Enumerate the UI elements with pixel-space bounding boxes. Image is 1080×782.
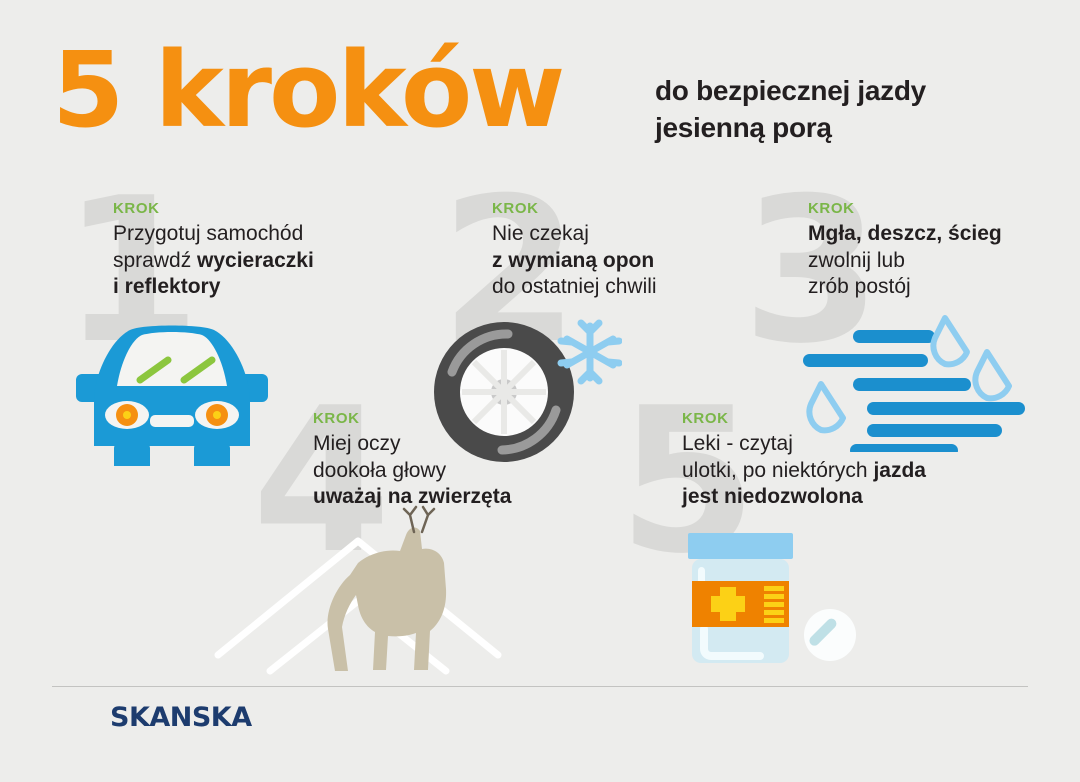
step-3-text: Mgła, deszcz, ścieg zwolnij lub zrób pos… bbox=[808, 221, 1002, 301]
step-1-line-2-bold: wycieraczki bbox=[197, 249, 314, 272]
step-1-line-2: sprawdź bbox=[113, 249, 197, 272]
footer-divider bbox=[52, 686, 1028, 687]
step-5-line-2-bold: jazda bbox=[873, 459, 926, 482]
step-1-krok-label: KROK bbox=[113, 200, 314, 217]
step-5: KROK Leki - czytaj ulotki, po niektórych… bbox=[682, 410, 926, 511]
car-icon bbox=[72, 318, 272, 471]
step-4-line-2: dookoła głowy bbox=[313, 459, 446, 482]
step-2-line-3: do ostatniej chwili bbox=[492, 275, 657, 298]
step-1-line-3: i reflektory bbox=[113, 275, 220, 298]
step-3-krok-label: KROK bbox=[808, 200, 1002, 217]
step-1-line-1: Przygotuj samochód bbox=[113, 222, 303, 245]
step-4-line-1: Miej oczy bbox=[313, 432, 401, 455]
step-2-text: Nie czekaj z wymianą opon do ostatniej c… bbox=[492, 221, 657, 301]
page-subtitle: do bezpiecznej jazdy jesienną porą bbox=[655, 72, 926, 146]
step-3-line-3: zrób postój bbox=[808, 275, 911, 298]
deer-icon bbox=[210, 505, 530, 695]
step-4-krok-label: KROK bbox=[313, 410, 511, 427]
step-5-krok-label: KROK bbox=[682, 410, 926, 427]
subtitle-line-2: jesienną porą bbox=[655, 109, 926, 146]
step-1: KROK Przygotuj samochód sprawdź wycierac… bbox=[113, 200, 314, 301]
step-4: KROK Miej oczy dookoła głowy uważaj na z… bbox=[313, 410, 511, 511]
medicine-bottle-icon bbox=[672, 525, 882, 680]
step-2-line-1: Nie czekaj bbox=[492, 222, 589, 245]
step-2: KROK Nie czekaj z wymianą opon do ostatn… bbox=[492, 200, 657, 301]
header: 5 kroków do bezpiecznej jazdy jesienną p… bbox=[0, 0, 1080, 175]
step-4-text: Miej oczy dookoła głowy uważaj na zwierz… bbox=[313, 431, 511, 511]
step-2-krok-label: KROK bbox=[492, 200, 657, 217]
step-5-line-1: Leki - czytaj bbox=[682, 432, 793, 455]
subtitle-line-1: do bezpiecznej jazdy bbox=[655, 72, 926, 109]
skanska-logo: SKANSKA bbox=[110, 702, 252, 733]
step-5-line-3: jest niedozwolona bbox=[682, 485, 863, 508]
step-2-line-2: z wymianą opon bbox=[492, 249, 654, 272]
step-5-line-2: ulotki, po niektórych bbox=[682, 459, 873, 482]
step-3-line-1: Mgła, deszcz, ścieg bbox=[808, 222, 1002, 245]
step-1-text: Przygotuj samochód sprawdź wycieraczki i… bbox=[113, 221, 314, 301]
step-3: KROK Mgła, deszcz, ścieg zwolnij lub zró… bbox=[808, 200, 1002, 301]
step-5-text: Leki - czytaj ulotki, po niektórych jazd… bbox=[682, 431, 926, 511]
step-3-line-2: zwolnij lub bbox=[808, 249, 905, 272]
step-4-line-3: uważaj na zwierzęta bbox=[313, 485, 511, 508]
page-title: 5 kroków bbox=[52, 38, 562, 142]
